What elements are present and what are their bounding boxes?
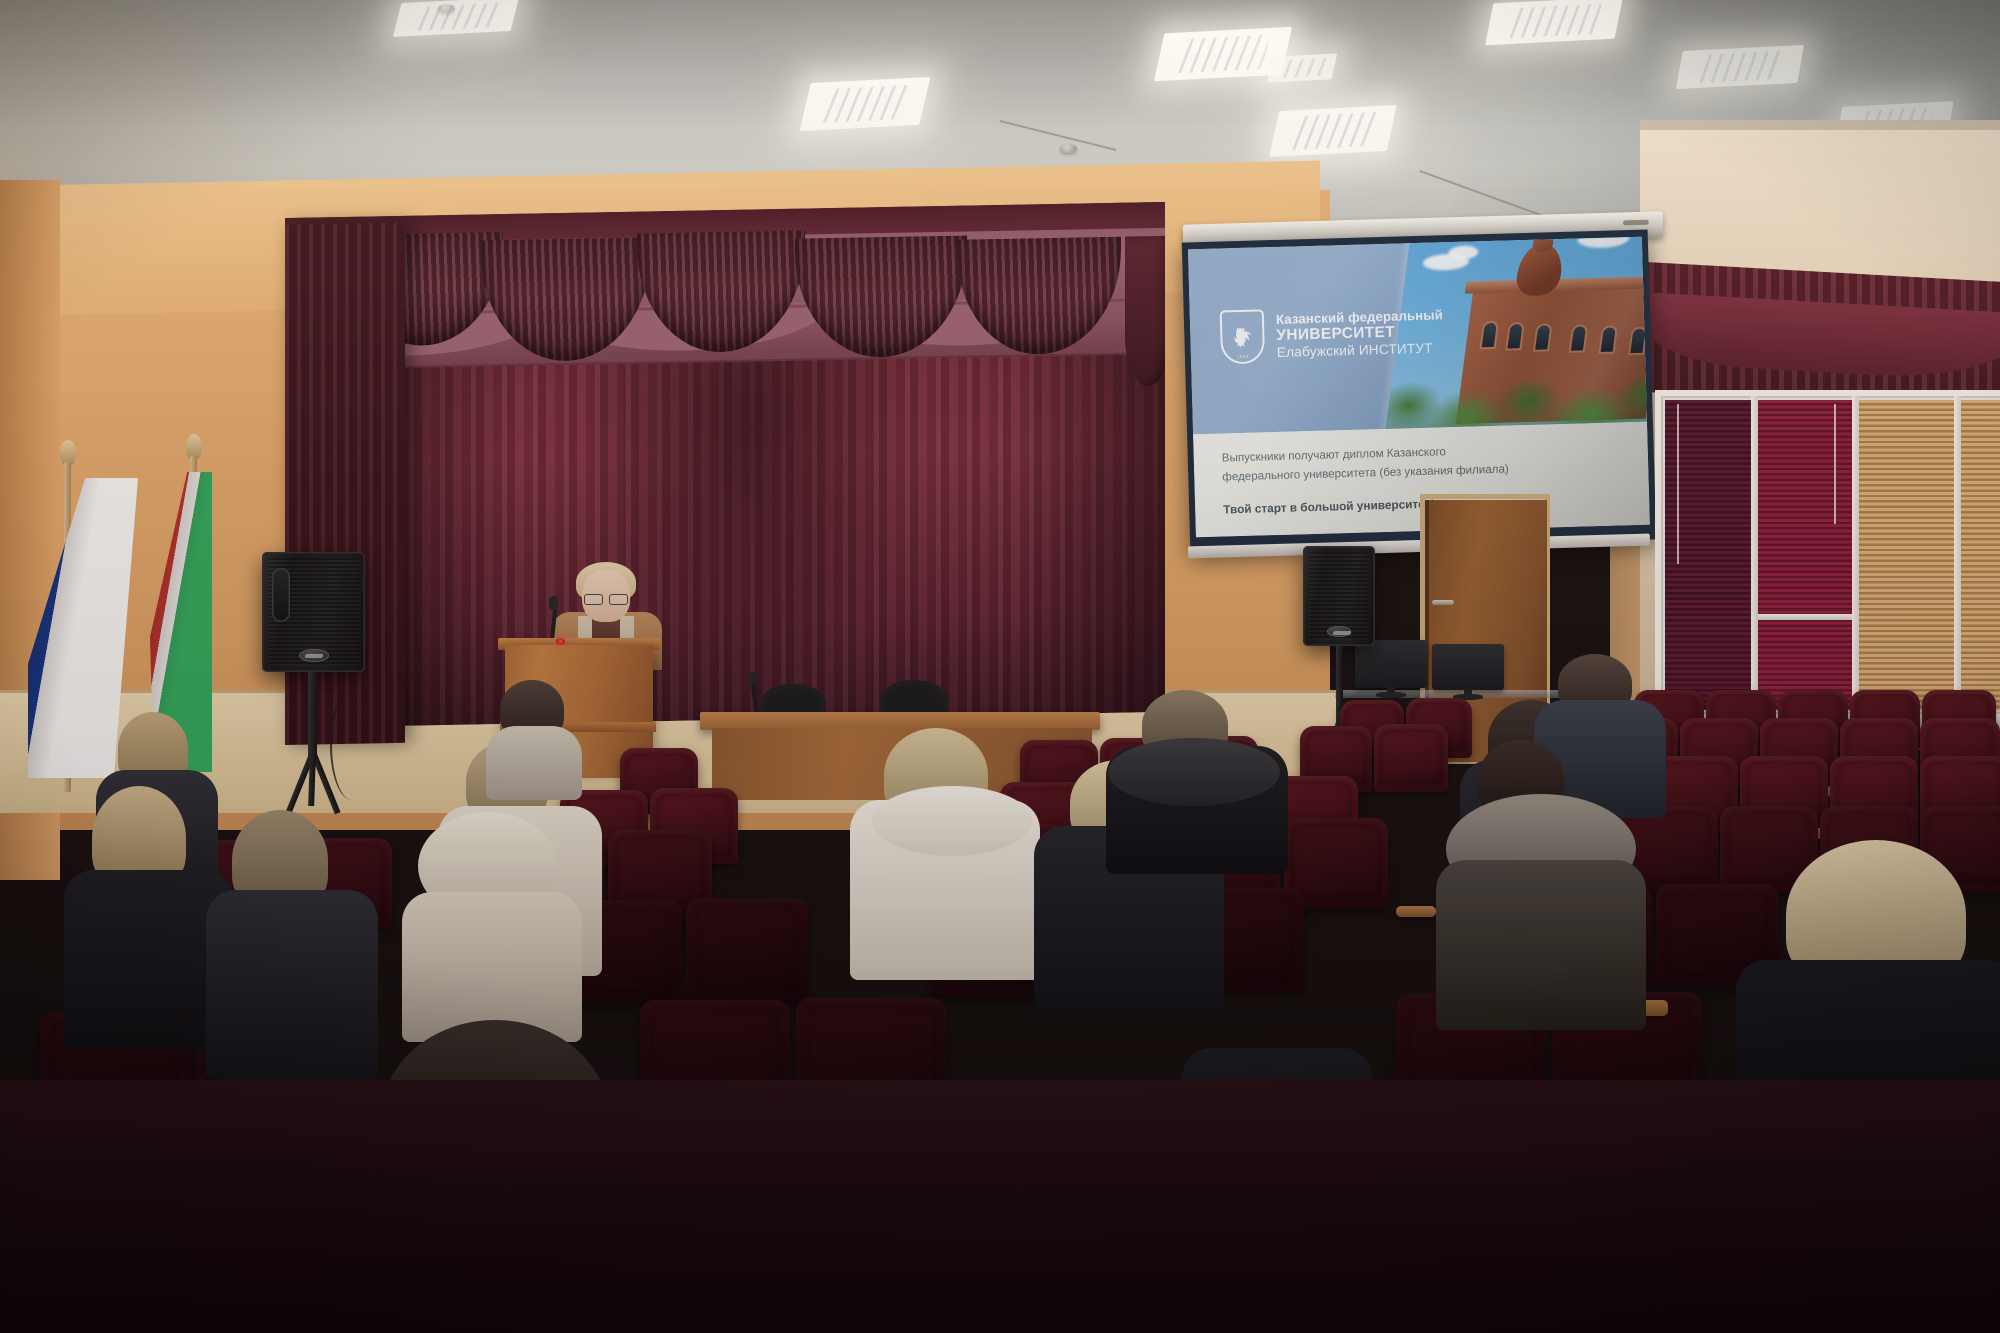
pa-speaker-right-badge — [1327, 626, 1351, 637]
audience-fur-hood — [1108, 738, 1280, 806]
podium-indicator-light — [556, 638, 565, 645]
blind-tan-2[interactable] — [1961, 400, 2000, 710]
window-mullion-2 — [1852, 396, 1859, 714]
projection-screen[interactable]: 1804 Казанский федеральный УНИВЕРСИТЕТ Е… — [1182, 230, 1656, 553]
blind-cord-2[interactable] — [1834, 404, 1836, 524]
av-monitor-right[interactable] — [1432, 644, 1504, 690]
av-glass-table — [1335, 690, 1565, 698]
door-handle[interactable] — [1432, 600, 1454, 605]
armrest — [1396, 906, 1436, 917]
window-pane-2 — [1758, 400, 1852, 710]
window-transom-1 — [1758, 614, 1852, 620]
kfu-dragon-shield-icon: 1804 — [1220, 309, 1265, 364]
stage-curtain — [285, 202, 1165, 728]
window-pane-4 — [1961, 400, 2000, 710]
window-mullion-3 — [1954, 396, 1961, 714]
dragon-glyph — [1230, 324, 1255, 351]
kfu-logo-text: Казанский федеральный УНИВЕРСИТЕТ Елабуж… — [1276, 307, 1444, 361]
audience-hood — [872, 786, 1032, 856]
pa-speaker-left-badge — [299, 649, 329, 662]
speaker-glasses-icon — [584, 594, 628, 603]
av-monitor-left[interactable] — [1355, 640, 1427, 688]
audience-coat — [1436, 860, 1646, 1030]
shield-year-label: 1804 — [1223, 353, 1263, 359]
blind-cord-1[interactable] — [1677, 404, 1679, 564]
auditorium-scene: 1804 Казанский федеральный УНИВЕРСИТЕТ Е… — [0, 0, 2000, 1333]
valance-tail-right — [1125, 236, 1165, 387]
seat[interactable] — [1374, 724, 1448, 792]
seat[interactable] — [686, 898, 808, 1002]
ceiling-lamp-4 — [1485, 0, 1623, 45]
ceiling-lamp-1 — [800, 77, 931, 131]
audience-coat — [486, 726, 582, 800]
window-pane-1 — [1665, 400, 1751, 710]
pa-speaker-left-cable — [330, 690, 374, 800]
kfu-logo: 1804 Казанский федеральный УНИВЕРСИТЕТ Е… — [1220, 304, 1444, 364]
av-monitor-left-base — [1376, 692, 1406, 698]
ceiling-lamp-6 — [393, 0, 519, 37]
audience-coat — [206, 890, 378, 1080]
presentation-slide: 1804 Казанский федеральный УНИВЕРСИТЕТ Е… — [1188, 237, 1650, 538]
pa-speaker-left — [262, 552, 365, 672]
pa-speaker-left-pole — [308, 672, 317, 760]
blind-crimson[interactable] — [1758, 400, 1852, 710]
floor-area — [0, 1080, 2000, 1333]
ceiling-lamp-3 — [1267, 53, 1337, 82]
window-mullion-1 — [1751, 396, 1758, 714]
ceiling-lamp-7 — [1676, 45, 1804, 89]
slide-tagline: Твой старт в большой университет! — [1223, 489, 1613, 519]
smoke-detector-1 — [1060, 144, 1077, 153]
slide-header-band: 1804 Казанский федеральный УНИВЕРСИТЕТ Е… — [1188, 237, 1647, 435]
smoke-detector-3 — [438, 4, 455, 13]
podium-microphone-head — [549, 596, 558, 610]
pa-speaker-left-port — [272, 568, 290, 622]
window-with-blinds — [1655, 390, 2000, 720]
ceiling-lamp-5 — [1269, 105, 1396, 157]
window-pane-3 — [1859, 400, 1954, 710]
blind-tan-1[interactable] — [1859, 400, 1954, 710]
table-microphone-head — [749, 672, 758, 685]
pa-speaker-right — [1303, 546, 1375, 646]
